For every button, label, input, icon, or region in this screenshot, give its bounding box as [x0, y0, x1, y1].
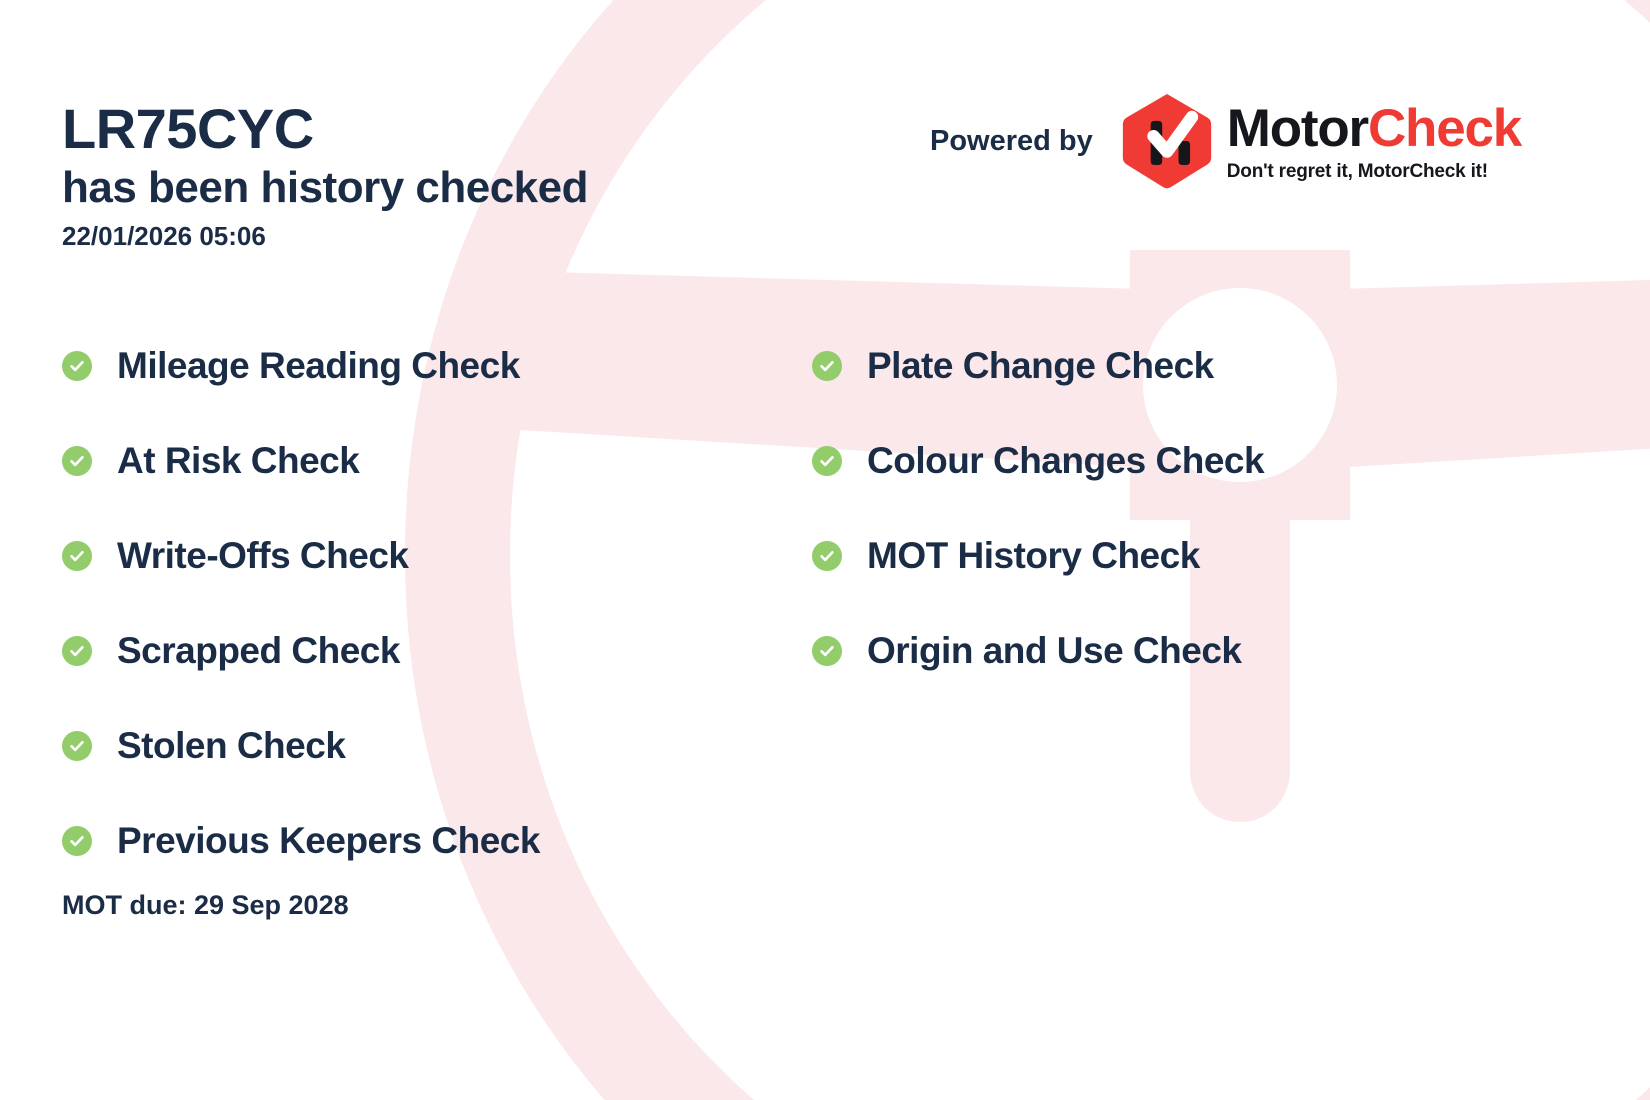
green-circle-check-icon: [812, 446, 842, 476]
green-circle-check-icon: [62, 541, 92, 571]
check-list-right: Plate Change Check Colour Changes Check …: [812, 318, 1264, 698]
vehicle-header: LR75CYC has been history checked 22/01/2…: [62, 98, 588, 252]
wordmark-check: Check: [1368, 99, 1521, 158]
green-circle-check-icon: [812, 351, 842, 381]
page-title: has been history checked: [62, 163, 588, 213]
check-item-mot-history: MOT History Check: [812, 508, 1264, 603]
check-item-stolen: Stolen Check: [62, 698, 540, 793]
check-label: Previous Keepers Check: [117, 820, 540, 862]
motorcheck-hexagon-m-check-icon: [1119, 92, 1215, 190]
registration-plate-title: LR75CYC: [62, 98, 588, 161]
check-item-colour-changes: Colour Changes Check: [812, 413, 1264, 508]
check-label: MOT History Check: [867, 535, 1200, 577]
motorcheck-logo[interactable]: MotorCheck Don't regret it, MotorCheck i…: [1119, 92, 1521, 190]
green-circle-check-icon: [812, 636, 842, 666]
check-label: Write-Offs Check: [117, 535, 409, 577]
green-circle-check-icon: [812, 541, 842, 571]
powered-by-label: Powered by: [930, 125, 1093, 158]
check-label: Stolen Check: [117, 725, 345, 767]
brand-tagline: Don't regret it, MotorCheck it!: [1227, 162, 1521, 181]
green-circle-check-icon: [62, 446, 92, 476]
check-label: Colour Changes Check: [867, 440, 1264, 482]
green-circle-check-icon: [62, 826, 92, 856]
green-circle-check-icon: [62, 731, 92, 761]
check-label: Plate Change Check: [867, 345, 1214, 387]
check-list-left: Mileage Reading Check At Risk Check Writ…: [62, 318, 540, 888]
check-label: Scrapped Check: [117, 630, 400, 672]
check-item-previous-keepers: Previous Keepers Check: [62, 793, 540, 888]
check-item-mileage-reading: Mileage Reading Check: [62, 318, 540, 413]
green-circle-check-icon: [62, 351, 92, 381]
powered-by-brand: Powered by MotorCheck Don't regret it, M…: [930, 92, 1521, 190]
check-item-origin-and-use: Origin and Use Check: [812, 603, 1264, 698]
check-label: Origin and Use Check: [867, 630, 1242, 672]
mot-due-text: MOT due: 29 Sep 2028: [62, 890, 349, 921]
check-item-at-risk: At Risk Check: [62, 413, 540, 508]
motorcheck-wordmark: MotorCheck: [1227, 102, 1521, 155]
check-item-write-offs: Write-Offs Check: [62, 508, 540, 603]
check-item-scrapped: Scrapped Check: [62, 603, 540, 698]
check-label: Mileage Reading Check: [117, 345, 520, 387]
green-circle-check-icon: [62, 636, 92, 666]
check-item-plate-change: Plate Change Check: [812, 318, 1264, 413]
check-label: At Risk Check: [117, 440, 359, 482]
check-timestamp: 22/01/2026 05:06: [62, 221, 588, 252]
wordmark-motor: Motor: [1227, 99, 1368, 158]
